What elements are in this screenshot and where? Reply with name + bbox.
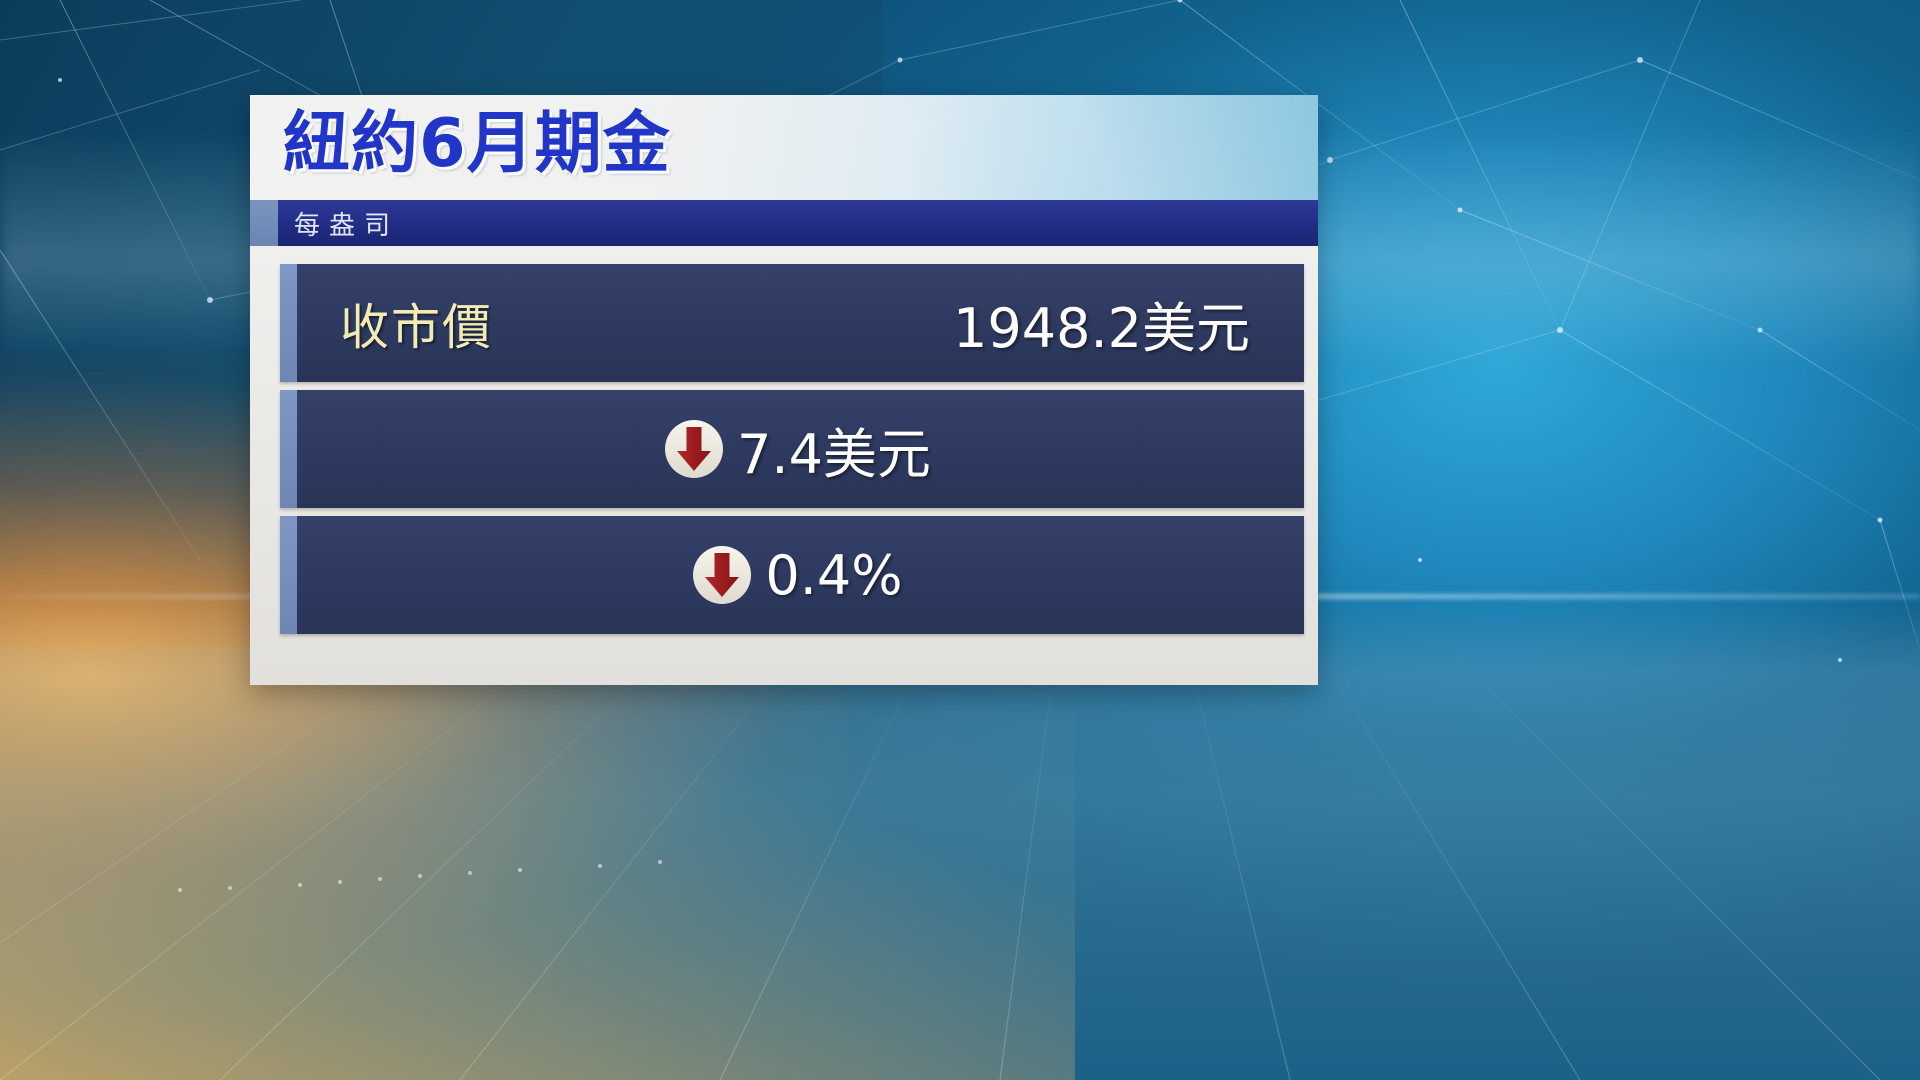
page-title: 紐約6月期金: [283, 101, 671, 187]
info-card: 紐約6月期金 每盎司 收市價 1948.2美元: [250, 95, 1318, 685]
row-center-content: 7.4美元: [280, 410, 1304, 489]
row-center-content: 0.4%: [280, 544, 1304, 607]
data-rows: 收市價 1948.2美元: [250, 246, 1318, 634]
row-accent-strip: [280, 390, 297, 508]
row-value-change-percent: 0.4%: [765, 544, 902, 607]
subtitle-bar: 每盎司: [250, 200, 1318, 246]
row-accent-strip: [280, 264, 297, 382]
card-header: 紐約6月期金: [250, 95, 1318, 200]
table-row: 0.4%: [280, 516, 1304, 634]
subtitle-accent-block: [250, 200, 278, 246]
table-row: 7.4美元: [280, 390, 1304, 508]
row-accent-strip: [280, 516, 297, 634]
down-arrow-icon: [663, 418, 725, 480]
row-label-close-price: 收市價: [340, 288, 493, 359]
subtitle-text: 每盎司: [294, 205, 399, 242]
down-arrow-icon: [691, 544, 753, 606]
row-value-change-amount: 7.4美元: [737, 410, 931, 489]
table-row: 收市價 1948.2美元: [280, 264, 1304, 382]
row-value-close-price: 1948.2美元: [953, 284, 1250, 363]
